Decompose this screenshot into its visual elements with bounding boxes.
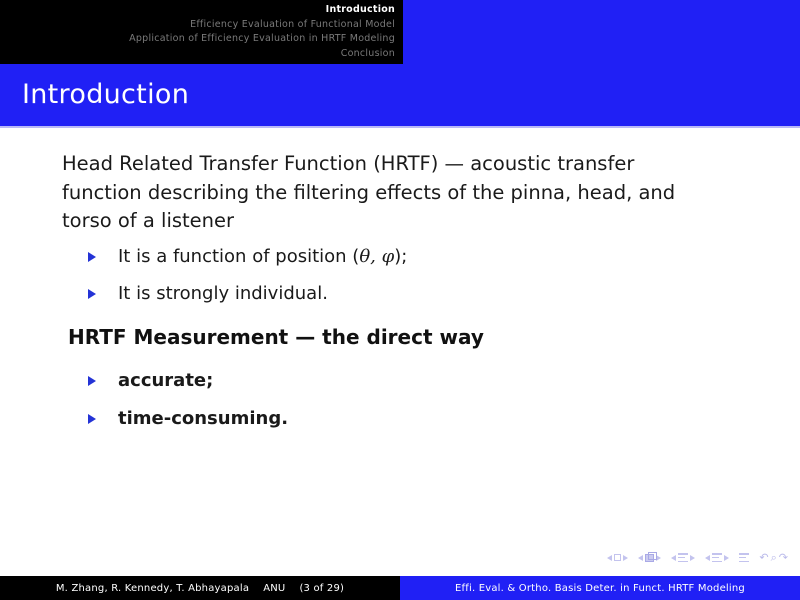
footer-short-title: Effi. Eval. & Ortho. Basis Deter. in Fun… bbox=[455, 583, 745, 594]
triangle-bullet-icon bbox=[88, 252, 96, 262]
list-item-text-suffix: ); bbox=[394, 246, 407, 267]
math-symbols-theta-phi: θ, φ bbox=[359, 246, 394, 267]
list-item: time-consuming. bbox=[88, 408, 288, 430]
footer-left-block: M. Zhang, R. Kennedy, T. Abhayapala ANU … bbox=[0, 576, 400, 600]
previous-subsection-icon[interactable] bbox=[671, 555, 676, 561]
current-frame-icon[interactable] bbox=[645, 554, 654, 562]
footer-institution: ANU bbox=[263, 583, 285, 594]
section-subheading: HRTF Measurement — the direct way bbox=[68, 325, 484, 349]
list-item-label: time-consuming. bbox=[118, 408, 288, 430]
section-nav-item-efficiency-evaluation[interactable]: Efficiency Evaluation of Functional Mode… bbox=[8, 18, 395, 33]
previous-slide-icon[interactable] bbox=[607, 555, 612, 561]
list-item-label: It is a function of position (θ, φ); bbox=[118, 246, 407, 268]
triangle-bullet-icon bbox=[88, 376, 96, 386]
list-item: accurate; bbox=[88, 370, 288, 392]
search-icon[interactable]: ⌕ bbox=[771, 552, 777, 563]
triangle-bullet-icon bbox=[88, 289, 96, 299]
document-icon[interactable] bbox=[739, 553, 749, 562]
footer-authors: M. Zhang, R. Kennedy, T. Abhayapala bbox=[56, 583, 249, 594]
list-item: It is strongly individual. bbox=[88, 283, 407, 305]
presentation-slide: Introduction Efficiency Evaluation of Fu… bbox=[0, 0, 800, 600]
next-section-icon[interactable] bbox=[724, 555, 729, 561]
list-item: It is a function of position (θ, φ); bbox=[88, 246, 407, 268]
forward-arrow-icon[interactable]: ↷ bbox=[779, 552, 788, 563]
slide-footer: M. Zhang, R. Kennedy, T. Abhayapala ANU … bbox=[0, 576, 800, 600]
page-title: Introduction bbox=[22, 80, 189, 110]
current-section-icon[interactable] bbox=[712, 553, 722, 562]
document-navigation-group[interactable] bbox=[739, 553, 749, 562]
subsection-navigation-group[interactable] bbox=[671, 553, 695, 562]
next-subsection-icon[interactable] bbox=[690, 555, 695, 561]
slide-body: Head Related Transfer Function (HRTF) — … bbox=[0, 128, 800, 548]
lead-paragraph: Head Related Transfer Function (HRTF) — … bbox=[62, 150, 702, 236]
list-item-label: accurate; bbox=[118, 370, 213, 392]
previous-frame-icon[interactable] bbox=[638, 555, 643, 561]
footer-right-block: Effi. Eval. & Ortho. Basis Deter. in Fun… bbox=[400, 576, 800, 600]
section-nav-item-conclusion[interactable]: Conclusion bbox=[8, 47, 395, 62]
section-navigation-group[interactable] bbox=[705, 553, 729, 562]
section-nav-item-introduction[interactable]: Introduction bbox=[8, 3, 395, 18]
beamer-navigation-symbols[interactable]: ↶ ⌕ ↷ bbox=[607, 552, 788, 563]
current-subsection-icon[interactable] bbox=[678, 553, 688, 562]
list-item-label: It is strongly individual. bbox=[118, 283, 328, 305]
slide-navigation-group[interactable] bbox=[607, 554, 628, 561]
frame-title-bar: Introduction bbox=[0, 64, 800, 126]
frame-navigation-group[interactable] bbox=[638, 554, 661, 562]
current-slide-icon[interactable] bbox=[614, 554, 621, 561]
bullet-list-primary: It is a function of position (θ, φ); It … bbox=[88, 246, 407, 305]
next-slide-icon[interactable] bbox=[623, 555, 628, 561]
list-item-text-prefix: It is a function of position ( bbox=[118, 246, 359, 267]
section-navigation: Introduction Efficiency Evaluation of Fu… bbox=[0, 0, 403, 64]
back-search-forward-group[interactable]: ↶ ⌕ ↷ bbox=[759, 552, 788, 563]
bullet-list-secondary: accurate; time-consuming. bbox=[88, 370, 288, 430]
section-nav-item-application[interactable]: Application of Efficiency Evaluation in … bbox=[8, 32, 395, 47]
back-arrow-icon[interactable]: ↶ bbox=[759, 552, 768, 563]
footer-page-indicator: (3 of 29) bbox=[299, 583, 344, 594]
previous-section-icon[interactable] bbox=[705, 555, 710, 561]
triangle-bullet-icon bbox=[88, 414, 96, 424]
